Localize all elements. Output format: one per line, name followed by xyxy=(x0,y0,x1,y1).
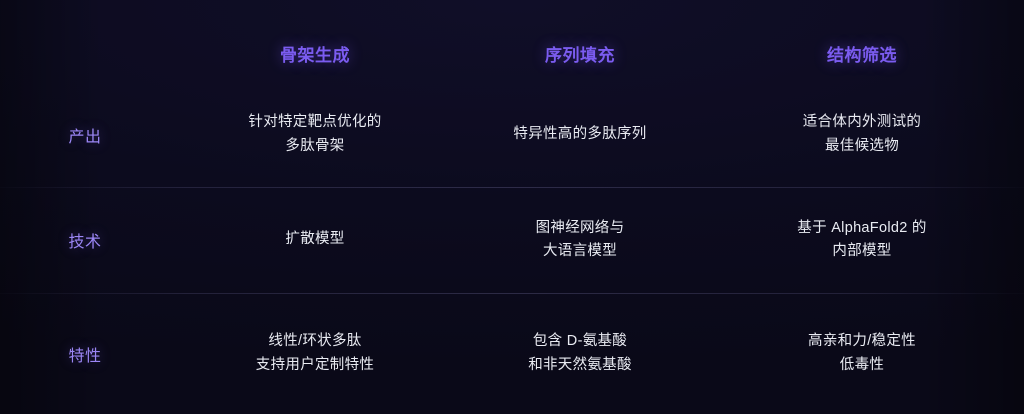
table-cell-line: 内部模型 xyxy=(797,240,926,263)
table-cell-technology-sequence: 图神经网络与 大语言模型 xyxy=(460,187,700,293)
row-divider xyxy=(0,187,1024,188)
table-cell-line: 最佳候选物 xyxy=(803,135,921,158)
table-cell-line: 特异性高的多肽序列 xyxy=(513,123,646,146)
table-cell-line: 低毒性 xyxy=(808,354,916,377)
table-cell-line: 和非天然氨基酸 xyxy=(528,354,632,377)
table-cell-line: 图神经网络与 xyxy=(536,217,625,240)
capability-comparison-table: 骨架生成 序列填充 结构筛选 产出 针对特定靶点优化的 多肽骨架 特异性高的多肽… xyxy=(0,0,1024,414)
table-cell-line: 扩散模型 xyxy=(285,228,344,251)
table-cell-line: 针对特定靶点优化的 xyxy=(248,111,381,134)
row-divider xyxy=(0,293,1024,294)
table-cell-line: 多肽骨架 xyxy=(248,135,381,158)
column-header-screening: 结构筛选 xyxy=(700,0,1024,82)
table-cell-line: 线性/环状多肽 xyxy=(256,330,374,353)
table-cell-features-scaffold: 线性/环状多肽 支持用户定制特性 xyxy=(170,293,460,414)
table-cell-line: 大语言模型 xyxy=(536,240,625,263)
table-cell-output-screening: 适合体内外测试的 最佳候选物 xyxy=(700,82,1024,187)
table-cell-line: 适合体内外测试的 xyxy=(803,111,921,134)
table-cell-features-screening: 高亲和力/稳定性 低毒性 xyxy=(700,293,1024,414)
table-cell-output-sequence: 特异性高的多肽序列 xyxy=(460,82,700,187)
table-grid: 骨架生成 序列填充 结构筛选 产出 针对特定靶点优化的 多肽骨架 特异性高的多肽… xyxy=(0,0,1024,414)
table-cell-output-scaffold: 针对特定靶点优化的 多肽骨架 xyxy=(170,82,460,187)
table-cell-technology-screening: 基于 AlphaFold2 的 内部模型 xyxy=(700,187,1024,293)
column-header-sequence: 序列填充 xyxy=(460,0,700,82)
table-cell-line: 包含 D-氨基酸 xyxy=(528,330,632,353)
table-cell-line: 支持用户定制特性 xyxy=(256,354,374,377)
column-header-scaffold: 骨架生成 xyxy=(170,0,460,82)
table-cell-technology-scaffold: 扩散模型 xyxy=(170,187,460,293)
table-corner-cell xyxy=(0,0,170,82)
row-label-features: 特性 xyxy=(0,293,170,414)
row-label-output: 产出 xyxy=(0,82,170,187)
table-cell-line: 基于 AlphaFold2 的 xyxy=(797,217,926,240)
row-label-technology: 技术 xyxy=(0,187,170,293)
table-cell-line: 高亲和力/稳定性 xyxy=(808,330,916,353)
table-cell-features-sequence: 包含 D-氨基酸 和非天然氨基酸 xyxy=(460,293,700,414)
